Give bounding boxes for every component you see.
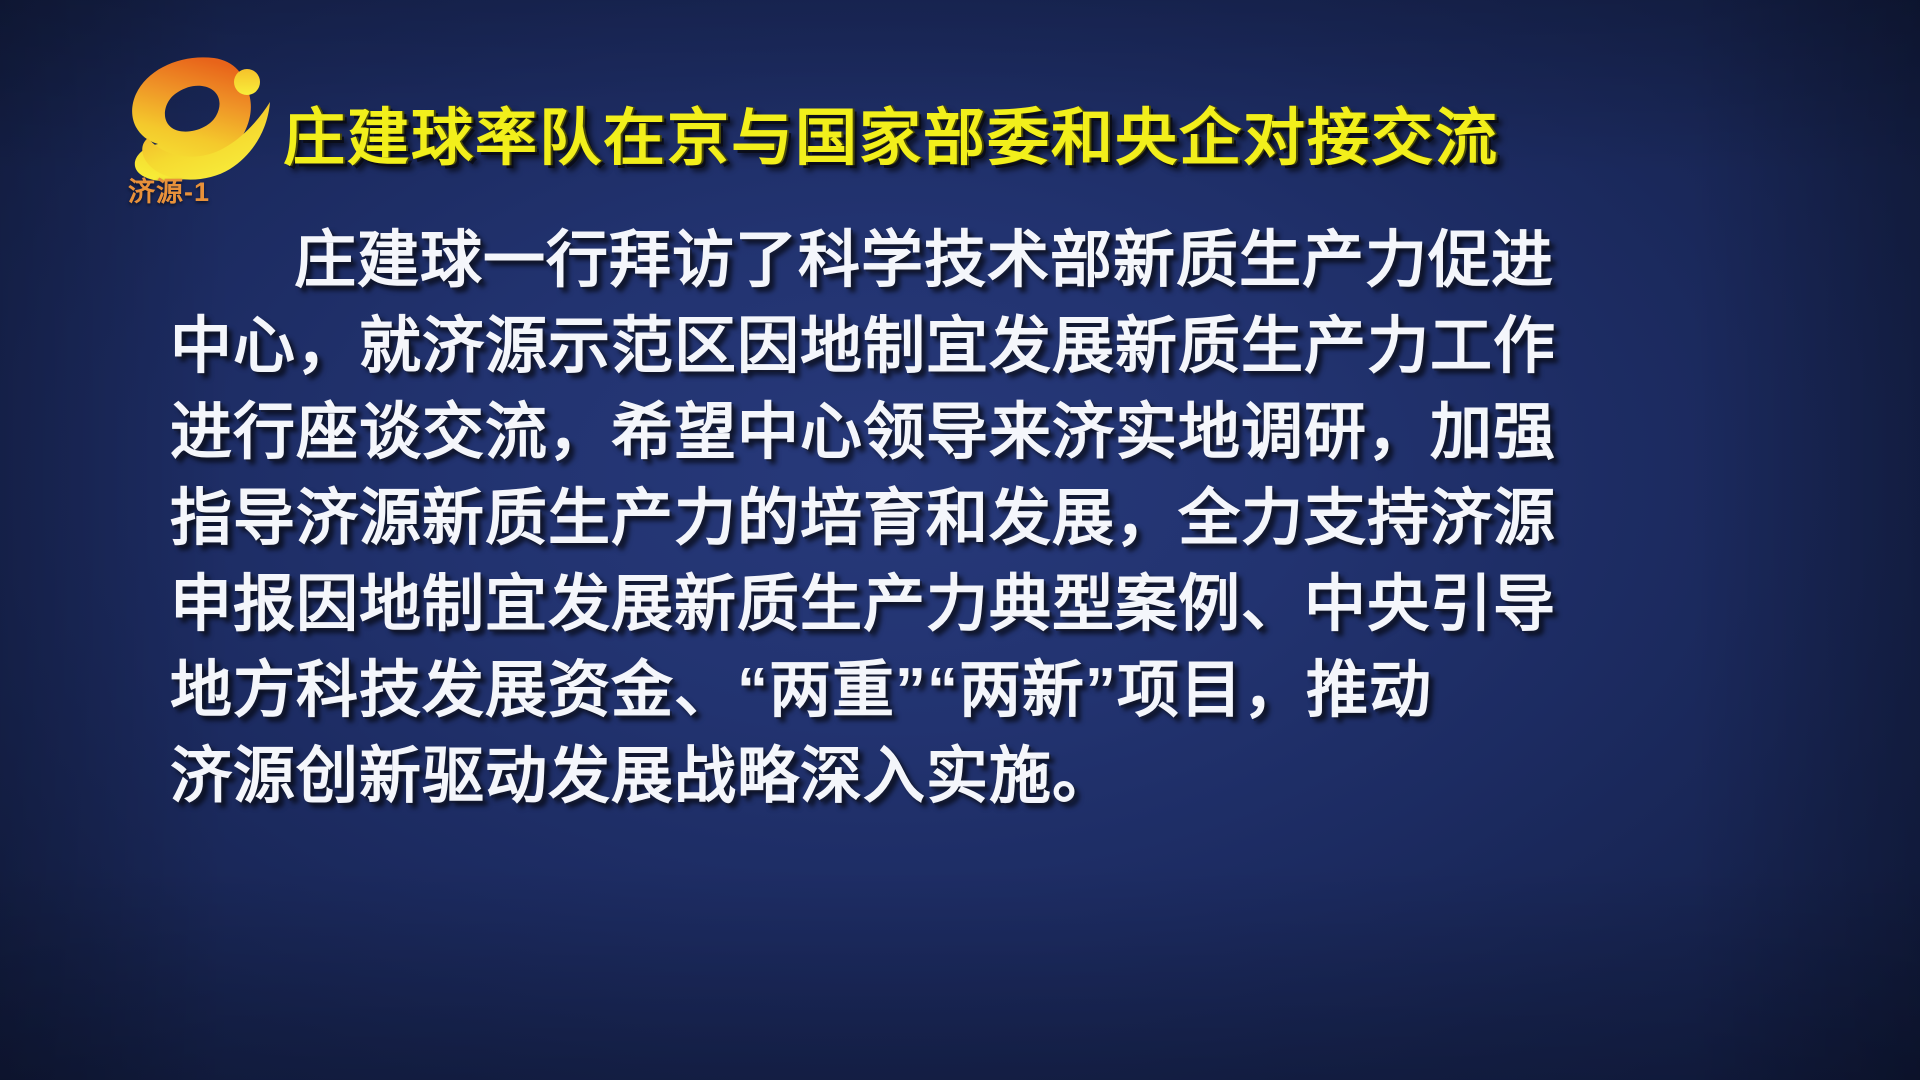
broadcast-text-card: 济源-1 庄建球率队在京与国家部委和央企对接交流 庄建球一行拜访了科学技术部新质… [0, 0, 1920, 1080]
logo-person-head-icon [234, 69, 260, 95]
article-line: 济源创新驱动发展战略深入实施。 [170, 734, 1750, 820]
article-line: 申报因地制宜发展新质生产力典型案例、中央引导 [170, 562, 1750, 648]
article-line: 中心，就济源示范区因地制宜发展新质生产力工作 [170, 304, 1750, 390]
article-line: 地方科技发展资金、“两重”“两新”项目，推动 [170, 648, 1750, 734]
channel-logo-block: 济源-1 [118, 52, 298, 227]
channel-caption: 济源-1 [128, 170, 298, 209]
article-line: 庄建球一行拜访了科学技术部新质生产力促进 [170, 218, 1750, 304]
header-band: 济源-1 庄建球率队在京与国家部委和央企对接交流 [0, 0, 1920, 230]
page-title: 庄建球率队在京与国家部委和央企对接交流 [283, 108, 1499, 170]
article-line: 进行座谈交流，希望中心领导来济实地调研，加强 [170, 390, 1750, 476]
article-line: 指导济源新质生产力的培育和发展，全力支持济源 [170, 476, 1750, 562]
article-body: 庄建球一行拜访了科学技术部新质生产力促进 中心，就济源示范区因地制宜发展新质生产… [170, 218, 1750, 820]
jiyuan-swirl-logo-icon [118, 52, 278, 182]
